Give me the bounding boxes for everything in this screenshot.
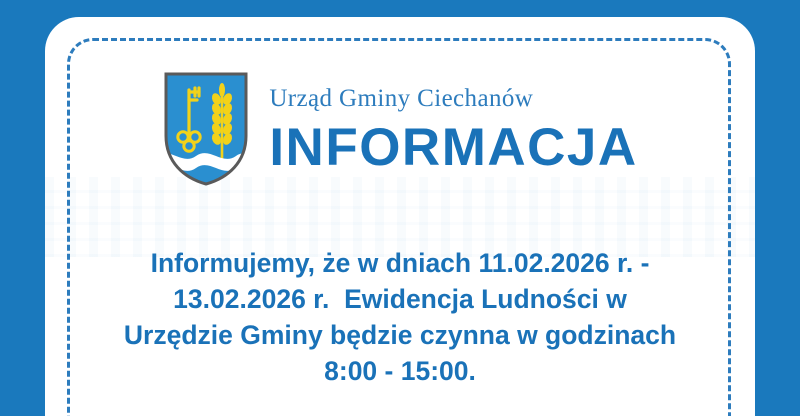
coat-of-arms-icon <box>162 70 250 188</box>
information-poster: Urząd Gminy Ciechanów INFORMACJA Informu… <box>0 0 800 416</box>
poster-headline: INFORMACJA <box>269 119 637 176</box>
announcement-line: Urzędzie Gminy będzie czynna w godzinach <box>85 317 715 353</box>
office-name: Urząd Gminy Ciechanów <box>269 86 637 111</box>
poster-header: Urząd Gminy Ciechanów INFORMACJA <box>45 70 755 188</box>
header-text-block: Urząd Gminy Ciechanów INFORMACJA <box>269 70 637 176</box>
announcement-line: 13.02.2026 r. Ewidencja Ludności w <box>85 281 715 317</box>
announcement-line: 8:00 - 15:00. <box>85 353 715 389</box>
announcement-line: Informujemy, że w dniach 11.02.2026 r. - <box>85 245 715 281</box>
announcement-text: Informujemy, że w dniach 11.02.2026 r. -… <box>85 245 715 389</box>
poster-card: Urząd Gminy Ciechanów INFORMACJA Informu… <box>45 17 755 416</box>
